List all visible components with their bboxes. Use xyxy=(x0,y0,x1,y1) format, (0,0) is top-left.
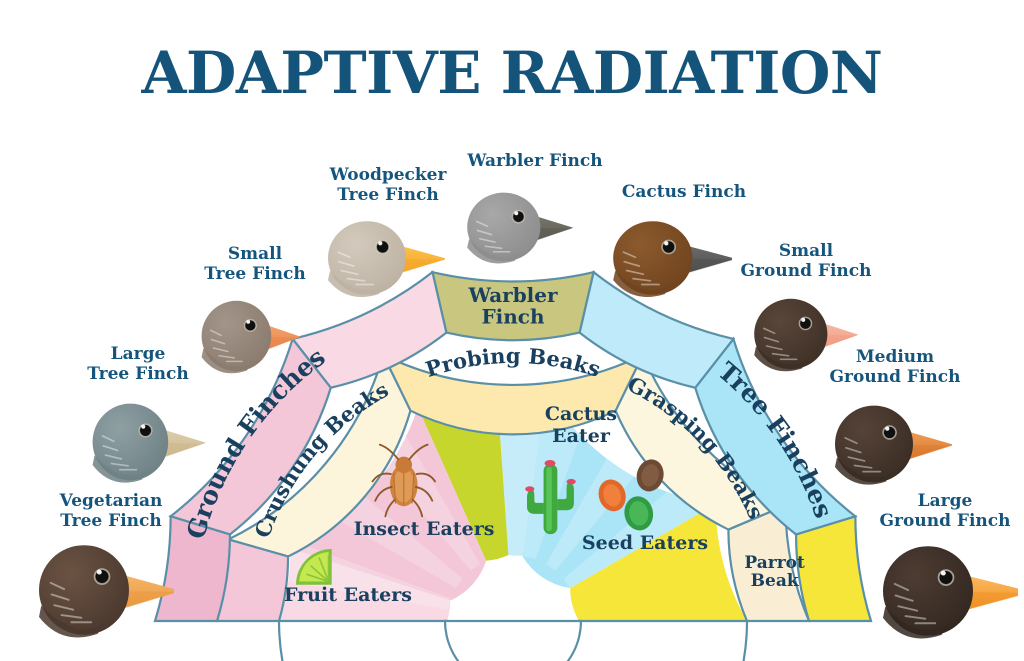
diet-label: Insect Eaters xyxy=(354,518,495,540)
diet-label: Eater xyxy=(552,425,611,447)
beak-label: ParrotBeak xyxy=(744,553,805,591)
bird-label-warbler-finch: Warbler Finch xyxy=(440,152,630,172)
clade-label: WarblerFinch xyxy=(467,283,558,329)
wheel-hub xyxy=(445,621,581,661)
bird-illustration-large-ground-finch xyxy=(868,535,1018,647)
hub-layer xyxy=(445,621,581,661)
diagram-canvas: ADAPTIVE RADIATION Tree FinchesWarblerFi… xyxy=(0,0,1024,661)
bird-illustration-woodpecker-tree-finch xyxy=(315,212,445,304)
bird-illustration-medium-ground-finch xyxy=(822,396,952,492)
bird-label-medium-ground-finch: Medium Ground Finch xyxy=(800,348,990,387)
bird-illustration-cactus-finch xyxy=(600,212,732,304)
diet-label: Seed Eaters xyxy=(582,532,708,554)
bird-label-woodpecker-tree-finch: Woodpecker Tree Finch xyxy=(298,166,478,205)
bird-label-vegetarian-tree-finch: Vegetarian Tree Finch xyxy=(26,492,196,531)
bird-illustration-small-tree-finch xyxy=(190,292,306,380)
bird-label-small-ground-finch: Small Ground Finch xyxy=(716,242,896,281)
bird-label-large-ground-finch: Large Ground Finch xyxy=(860,492,1024,531)
diet-label: Cactus xyxy=(545,403,617,425)
bird-illustration-vegetarian-tree-finch xyxy=(24,534,174,646)
beak-label: Probing Beaks xyxy=(422,343,603,382)
bird-illustration-warbler-finch xyxy=(455,184,577,270)
bird-label-small-tree-finch: Small Tree Finch xyxy=(180,245,330,284)
bird-label-cactus-finch: Cactus Finch xyxy=(594,183,774,203)
diet-label: Fruit Eaters xyxy=(284,584,412,606)
bird-illustration-large-tree-finch xyxy=(80,394,206,490)
